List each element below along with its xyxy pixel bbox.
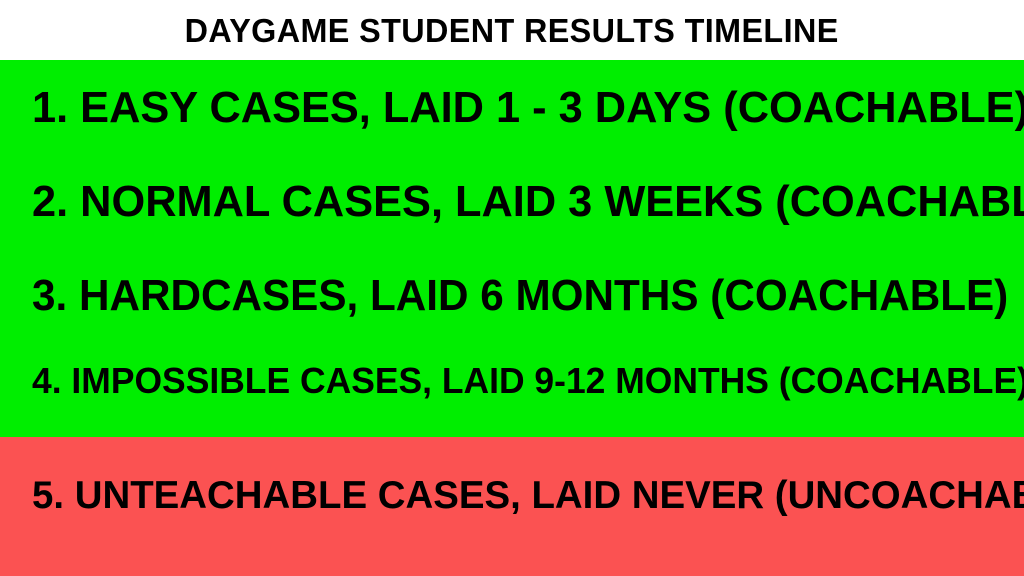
timeline-row-3: 3. HARDCASES, LAID 6 MONTHS (COACHABLE) [0, 274, 1024, 318]
timeline-row-4-label: 4. IMPOSSIBLE CASES, LAID 9-12 MONTHS (C… [32, 363, 1024, 399]
timeline-row-3-label: 3. HARDCASES, LAID 6 MONTHS (COACHABLE) [32, 274, 1008, 318]
page-title: DAYGAME STUDENT RESULTS TIMELINE [185, 14, 839, 47]
header-band: DAYGAME STUDENT RESULTS TIMELINE [0, 0, 1024, 60]
timeline-row-1-label: 1. EASY CASES, LAID 1 - 3 DAYS (COACHABL… [32, 86, 1024, 130]
timeline-row-5-label: 5. UNTEACHABLE CASES, LAID NEVER (UNCOAC… [32, 476, 1024, 515]
timeline-row-2: 2. NORMAL CASES, LAID 3 WEEKS (COACHABLE… [0, 180, 1024, 224]
slide-root: DAYGAME STUDENT RESULTS TIMELINE 1. EASY… [0, 0, 1024, 576]
timeline-row-2-label: 2. NORMAL CASES, LAID 3 WEEKS (COACHABLE… [32, 180, 1024, 224]
timeline-row-1: 1. EASY CASES, LAID 1 - 3 DAYS (COACHABL… [0, 86, 1024, 130]
timeline-row-4: 4. IMPOSSIBLE CASES, LAID 9-12 MONTHS (C… [0, 363, 1024, 399]
timeline-row-5: 5. UNTEACHABLE CASES, LAID NEVER (UNCOAC… [0, 476, 1024, 515]
